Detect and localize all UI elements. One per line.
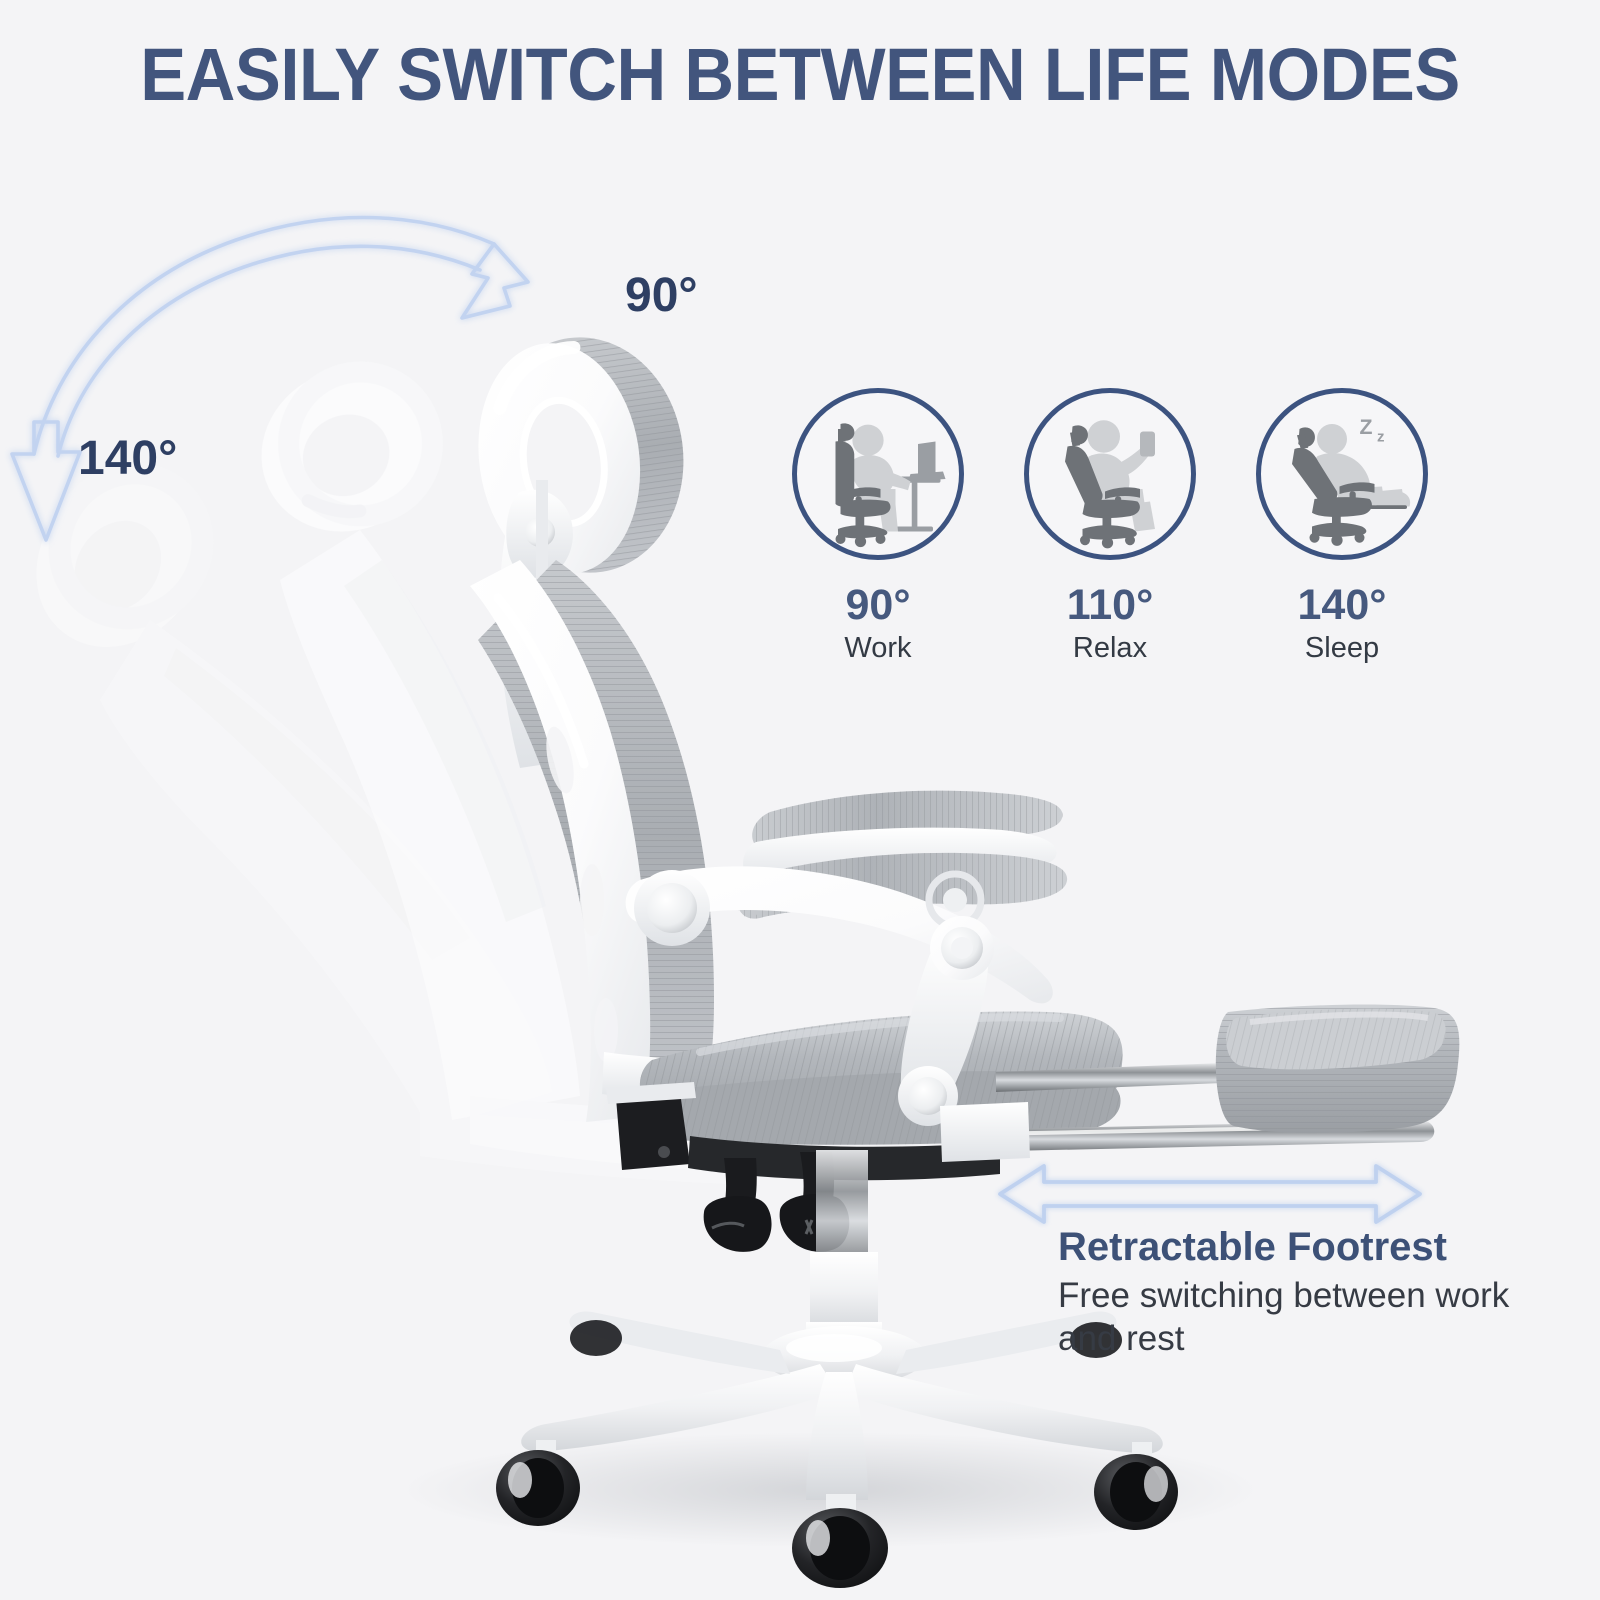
mode-sleep-label: Sleep [1305, 632, 1379, 664]
mode-relax-circle [1024, 388, 1196, 560]
life-modes-group: 90° Work [780, 388, 1440, 678]
footrest-callout-title: Retractable Footrest [1058, 1222, 1528, 1272]
mode-relax[interactable]: 110° Relax [1012, 388, 1208, 664]
footrest-callout-subtitle: Free switching between work and rest [1058, 1274, 1528, 1360]
footrest-callout: Retractable Footrest Free switching betw… [1058, 1222, 1528, 1360]
mode-work-label: Work [844, 632, 911, 664]
person-sleeping-reclined-footrest-icon: Z z [1267, 399, 1417, 549]
caster-wheel [792, 1508, 888, 1588]
sleep-z-small: z [1377, 429, 1385, 446]
mode-work[interactable]: 90° Work [780, 388, 976, 664]
mode-sleep[interactable]: Z z [1244, 388, 1440, 664]
mode-sleep-angle: 140° [1298, 582, 1387, 628]
angle-label-140: 140° [78, 431, 177, 486]
caster-wheel [496, 1450, 580, 1526]
person-at-desk-upright-chair-icon [803, 399, 953, 549]
infographic-canvas: EASILY SWITCH BETWEEN LIFE MODES [0, 0, 1600, 1600]
angle-label-90: 90° [625, 268, 698, 323]
mode-relax-angle: 110° [1067, 582, 1154, 628]
sleep-z-large: Z [1360, 415, 1373, 439]
person-reclined-with-phone-icon [1035, 399, 1185, 549]
mode-relax-label: Relax [1073, 632, 1147, 664]
caster-wheel [1094, 1454, 1178, 1530]
mode-work-angle: 90° [845, 582, 910, 628]
recline-arc-arrow [0, 210, 680, 560]
mode-work-circle [792, 388, 964, 560]
mode-sleep-circle: Z z [1256, 388, 1428, 560]
